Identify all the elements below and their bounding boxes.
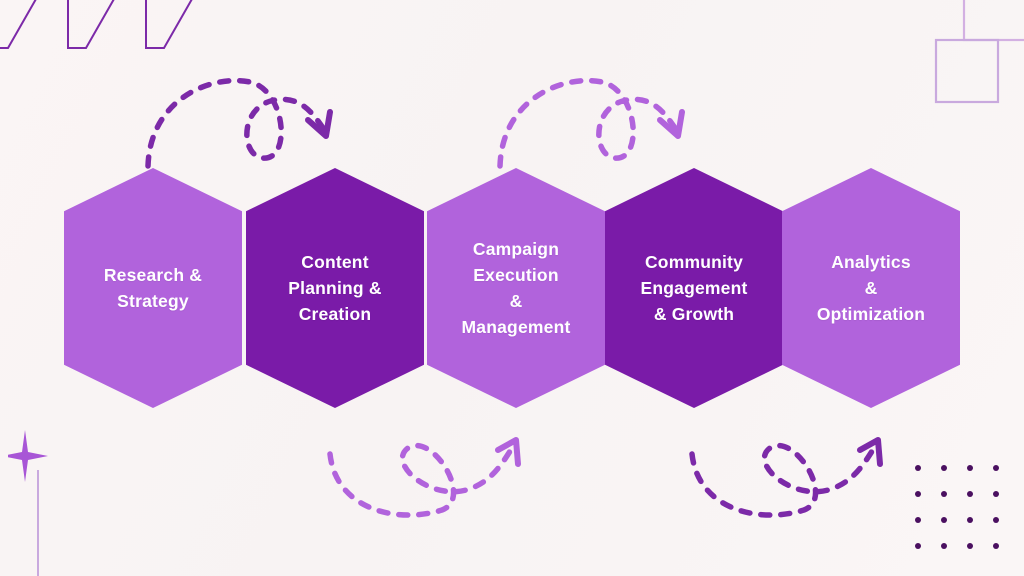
process-step-label-5: Analytics & Optimization (811, 249, 931, 328)
infographic-canvas: Research & Strategy Content Planning & C… (0, 0, 1024, 576)
process-step-hexagon-3[interactable]: Campaign Execution & Management (427, 168, 605, 408)
process-step-row: Research & Strategy Content Planning & C… (0, 0, 1024, 576)
process-step-hexagon-1[interactable]: Research & Strategy (64, 168, 242, 408)
process-step-label-3: Campaign Execution & Management (456, 236, 577, 341)
process-step-label-2: Content Planning & Creation (282, 249, 387, 328)
process-step-label-4: Community Engagement & Growth (634, 249, 753, 328)
process-step-label-1: Research & Strategy (98, 262, 208, 315)
process-step-hexagon-5[interactable]: Analytics & Optimization (782, 168, 960, 408)
process-step-hexagon-4[interactable]: Community Engagement & Growth (605, 168, 783, 408)
process-step-hexagon-2[interactable]: Content Planning & Creation (246, 168, 424, 408)
